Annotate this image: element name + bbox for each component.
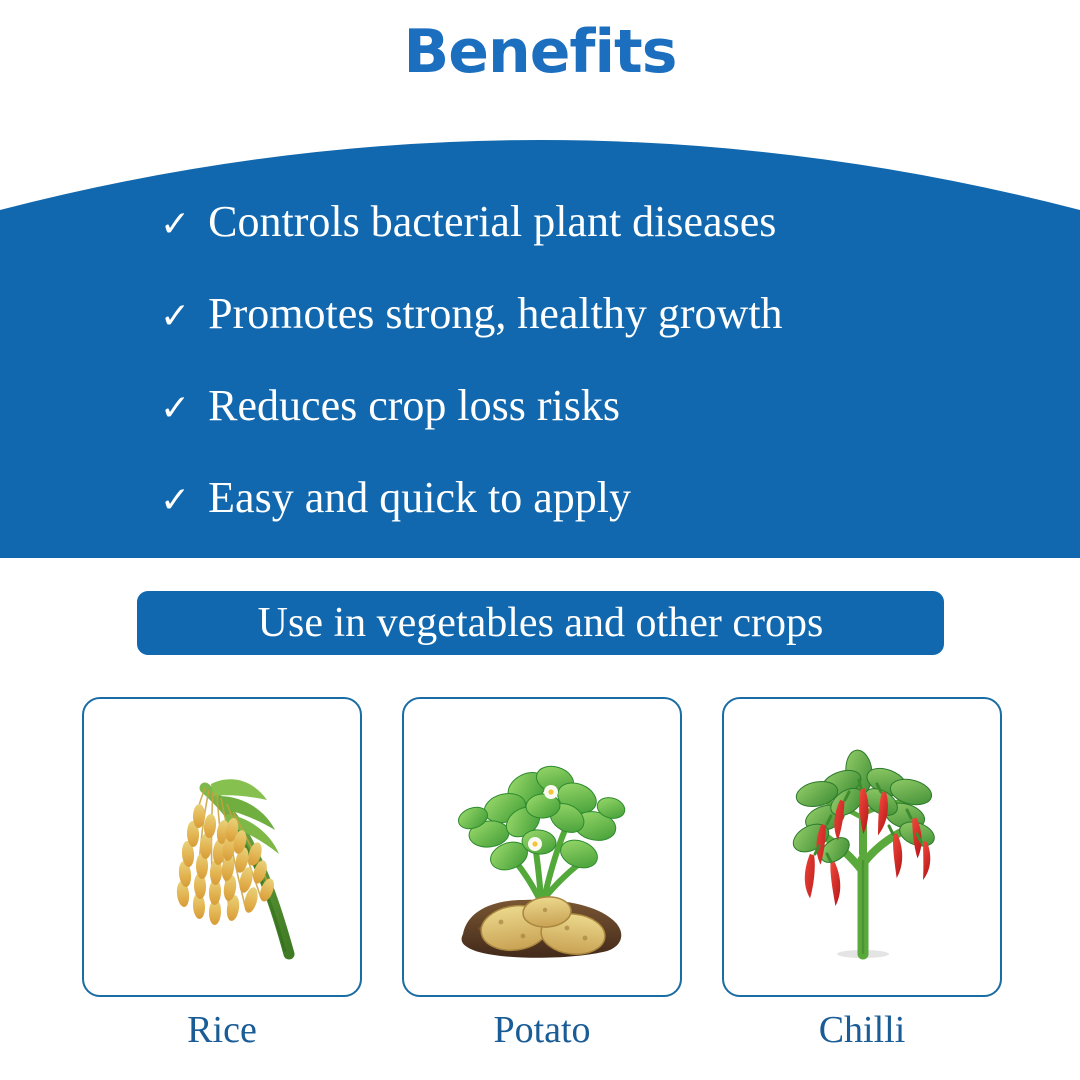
check-icon: ✓ <box>160 207 190 243</box>
crop-label-rice: Rice <box>187 1011 257 1049</box>
benefit-label: Easy and quick to apply <box>208 476 631 520</box>
crop-card-chilli <box>722 697 1002 997</box>
chilli-plant-illustration <box>747 722 977 972</box>
benefit-item: ✓ Reduces crop loss risks <box>160 384 620 428</box>
benefit-item: ✓ Easy and quick to apply <box>160 476 631 520</box>
benefit-label: Controls bacterial plant diseases <box>208 200 776 244</box>
benefit-label: Reduces crop loss risks <box>208 384 620 428</box>
crop-item-rice: Rice <box>82 697 362 1049</box>
potato-plant-illustration <box>427 722 657 972</box>
crop-card-potato <box>402 697 682 997</box>
crop-item-potato: Potato <box>402 697 682 1049</box>
check-icon: ✓ <box>160 483 190 519</box>
use-in-crops-banner-text: Use in vegetables and other crops <box>258 602 824 644</box>
benefit-item: ✓ Controls bacterial plant diseases <box>160 200 776 244</box>
crop-label-chilli: Chilli <box>819 1011 906 1049</box>
crop-label-potato: Potato <box>493 1011 590 1049</box>
check-icon: ✓ <box>160 391 190 427</box>
crop-cards: Rice <box>82 697 1002 1049</box>
rice-plant-illustration <box>107 722 337 972</box>
page-title: Benefits <box>0 22 1080 82</box>
benefit-item: ✓ Promotes strong, healthy growth <box>160 292 783 336</box>
use-in-crops-banner: Use in vegetables and other crops <box>137 591 944 655</box>
crop-card-rice <box>82 697 362 997</box>
crop-item-chilli: Chilli <box>722 697 1002 1049</box>
benefits-panel: ✓ Controls bacterial plant diseases ✓ Pr… <box>0 100 1080 558</box>
benefits-poster: Benefits ✓ Controls bacterial plant dise… <box>0 0 1080 1080</box>
benefits-list: ✓ Controls bacterial plant diseases ✓ Pr… <box>0 100 1080 558</box>
benefit-label: Promotes strong, healthy growth <box>208 292 782 336</box>
check-icon: ✓ <box>160 299 190 335</box>
